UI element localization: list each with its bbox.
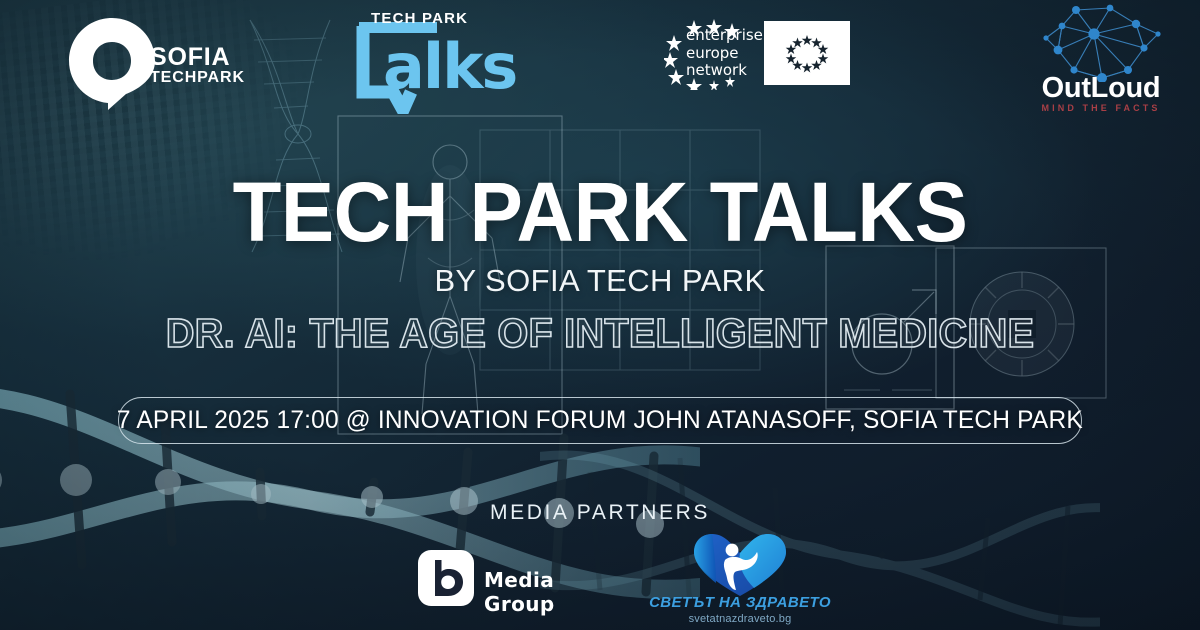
sofia-tech-park-mark-icon — [66, 16, 158, 112]
heart-with-figure-icon — [682, 532, 798, 598]
eu-flag-icon — [764, 21, 850, 85]
sofia-tech-park-logo[interactable]: SOFIA TECHPARK — [66, 14, 281, 114]
een-line2: europe — [686, 45, 763, 63]
headline-block: TECH PARK TALKS BY SOFIA TECH PARK — [0, 172, 1200, 299]
page-subtitle: DR. AI: THE AGE OF INTELLIGENT MEDICINE — [18, 310, 1182, 357]
sofia-tech-park-line2: TECHPARK — [150, 70, 245, 87]
outloud-wordmark: OutLoud — [1016, 72, 1186, 105]
btv-media-group-logo[interactable]: Media Group — [418, 550, 603, 612]
een-line3: network — [686, 62, 763, 80]
tech-park-talks-word: alks — [383, 30, 516, 103]
event-poster: SOFIA TECHPARK TECH PARK alks — [0, 0, 1200, 630]
svetat-na-zdraveto-name: СВЕТЪТ НА ЗДРАВЕТО — [645, 594, 835, 611]
sponsor-logo-bar: SOFIA TECHPARK TECH PARK alks — [0, 0, 1200, 120]
media-partners-label: MEDIA PARTNERS — [0, 501, 1200, 525]
outloud-logo[interactable]: OutLoud MIND THE FACTS — [1016, 4, 1186, 114]
outloud-tagline: MIND THE FACTS — [1016, 103, 1186, 113]
svetat-na-zdraveto-url[interactable]: svetatnazdraveto.bg — [645, 613, 835, 625]
page-byline: BY SOFIA TECH PARK — [0, 263, 1200, 299]
svetat-na-zdraveto-logo[interactable]: СВЕТЪТ НА ЗДРАВЕТО svetatnazdraveto.bg — [645, 532, 835, 630]
media-partners-list: Media Group — [0, 540, 1200, 630]
event-details-pill: 7 APRIL 2025 17:00 @ INNOVATION FORUM JO… — [118, 397, 1082, 444]
btv-mark-icon — [418, 550, 474, 606]
tech-park-talks-logo[interactable]: TECH PARK alks — [345, 6, 505, 114]
event-details-text: 7 APRIL 2025 17:00 @ INNOVATION FORUM JO… — [117, 406, 1083, 435]
page-title: TECH PARK TALKS — [30, 172, 1170, 253]
btv-media-group-text: Media Group — [484, 568, 603, 616]
network-nodes-icon — [1032, 4, 1172, 82]
sofia-tech-park-line1: SOFIA — [150, 44, 245, 70]
een-line1: enterprise — [686, 27, 763, 45]
tech-park-talks-eyebrow: TECH PARK — [371, 10, 468, 27]
enterprise-europe-network-logo[interactable]: enterprise europe network — [664, 18, 844, 90]
